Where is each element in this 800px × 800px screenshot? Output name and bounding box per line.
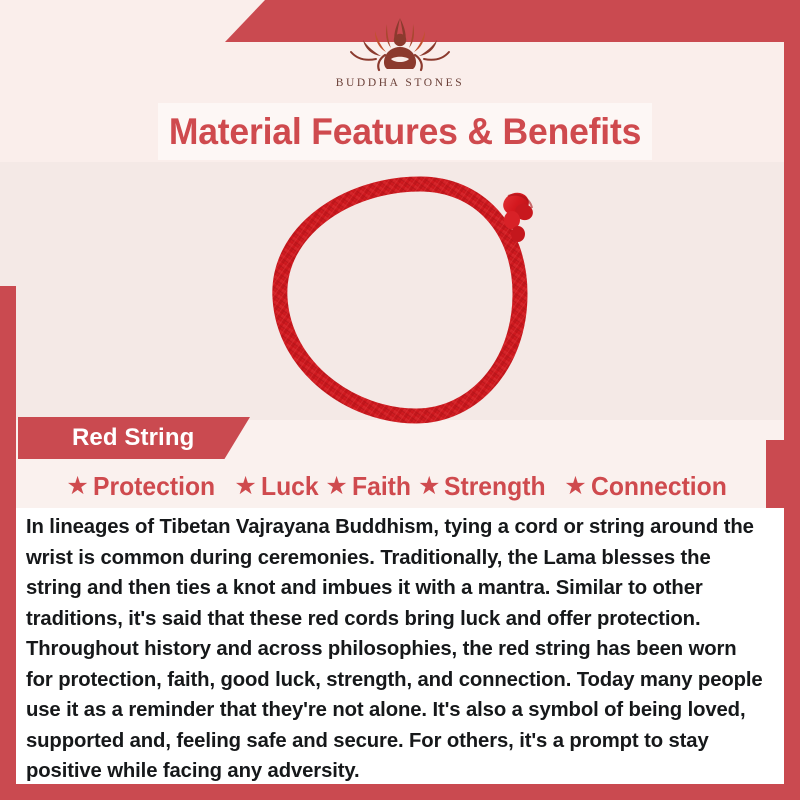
- description-text: In lineages of Tibetan Vajrayana Buddhis…: [26, 512, 763, 787]
- infographic-page: BUDDHA STONES Material Features & Benefi…: [0, 0, 800, 800]
- star-icon: ★: [564, 474, 586, 499]
- feature-item-faith: ★ Faith: [325, 471, 414, 502]
- feature-item-strength: ★ Strength: [418, 471, 551, 502]
- page-title: Material Features & Benefits: [169, 111, 641, 153]
- ribbon-label: Red String: [72, 424, 194, 452]
- star-icon: ★: [234, 474, 256, 499]
- product-image-red-string-bracelet: [268, 176, 564, 428]
- frame-border-left: [0, 286, 16, 800]
- title-panel: Material Features & Benefits: [158, 103, 652, 160]
- star-icon: ★: [325, 474, 347, 499]
- star-icon: ★: [66, 474, 88, 499]
- feature-label: Faith: [352, 471, 411, 502]
- feature-label: Protection: [93, 471, 215, 502]
- brand-logo: BUDDHA STONES: [0, 14, 800, 100]
- feature-list: ★ Protection ★ Luck ★ Faith ★ Strength ★…: [16, 466, 784, 506]
- frame-border-right: [784, 42, 800, 800]
- feature-label: Strength: [444, 471, 546, 502]
- feature-item-luck: ★ Luck: [234, 471, 321, 502]
- star-icon: ★: [418, 474, 440, 499]
- red-braided-cord-illustration: [268, 176, 564, 428]
- feature-item-protection: ★ Protection: [66, 471, 221, 502]
- feature-label: Luck: [261, 471, 319, 502]
- feature-label: Connection: [591, 471, 727, 502]
- lotus-meditation-figure-icon: [325, 14, 475, 76]
- brand-name: BUDDHA STONES: [336, 77, 464, 89]
- description-panel: In lineages of Tibetan Vajrayana Buddhis…: [16, 508, 784, 784]
- feature-item-connection: ★ Connection: [564, 471, 733, 502]
- red-string-ribbon: Red String: [18, 417, 250, 459]
